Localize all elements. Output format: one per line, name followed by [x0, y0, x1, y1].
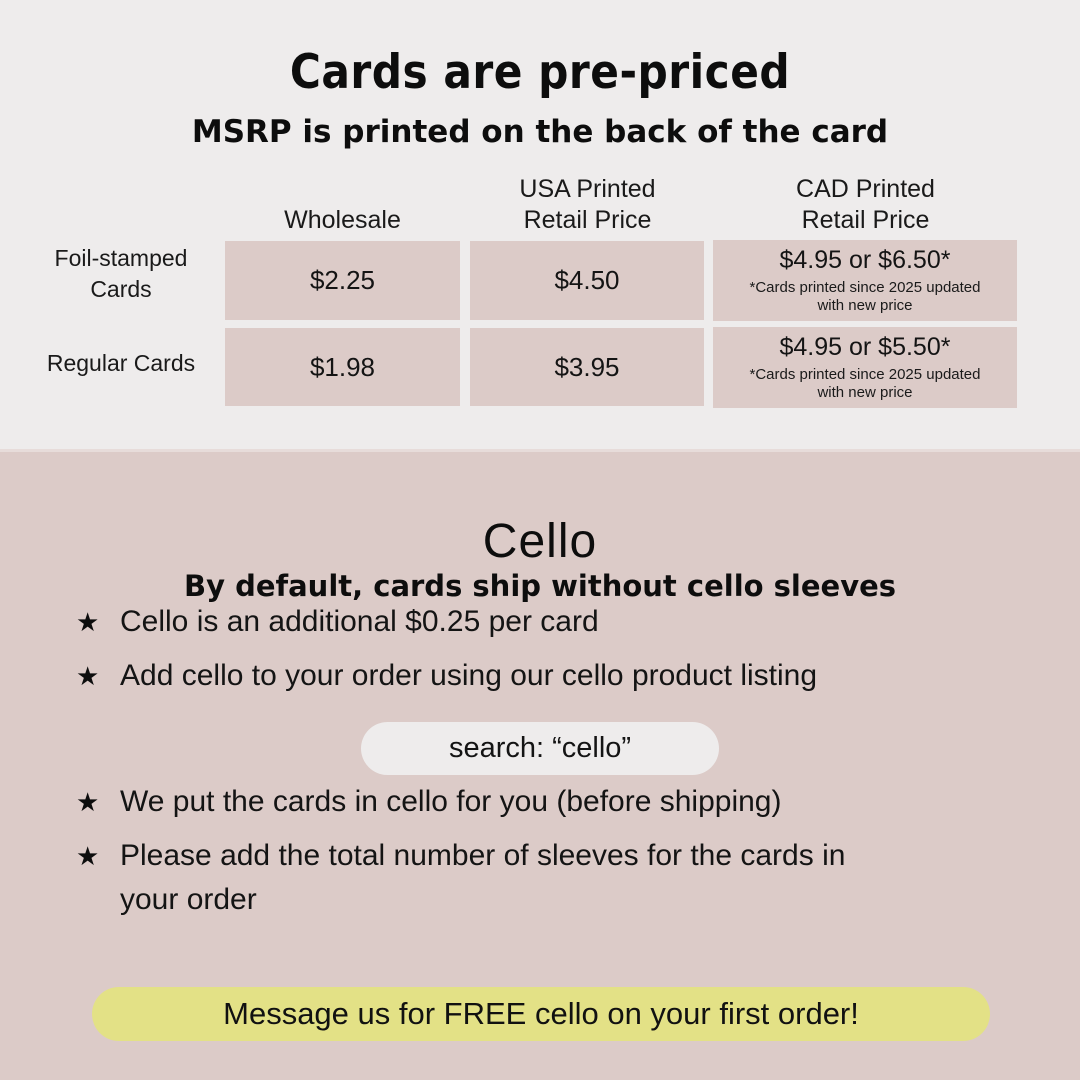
- cell-foil-cad-note: *Cards printed since 2025 updated with n…: [750, 279, 981, 315]
- cell-regular-wholesale: $1.98: [225, 328, 460, 406]
- search-hint-label: search: “cello”: [449, 732, 631, 765]
- cell-foil-cad-note-line2: with new price: [750, 297, 981, 315]
- list-item: ★ Please add the total number of sleeves…: [70, 836, 1030, 876]
- cta-banner[interactable]: Message us for FREE cello on your first …: [92, 987, 990, 1041]
- list-item-label: We put the cards in cello for you (befor…: [120, 782, 1030, 822]
- column-header-usa: USA Printed Retail Price: [470, 174, 705, 236]
- cello-title: Cello: [0, 514, 1080, 569]
- list-item-label: Cello is an additional $0.25 per card: [120, 602, 1030, 642]
- cell-regular-cad: $4.95 or $5.50* *Cards printed since 202…: [713, 327, 1017, 408]
- list-item: ★ Add cello to your order using our cell…: [70, 656, 1030, 696]
- cell-regular-cad-note-line1: *Cards printed since 2025 updated: [750, 366, 981, 384]
- star-icon: ★: [70, 836, 120, 876]
- star-icon: ★: [70, 782, 120, 822]
- row-label-foil-stamped-cards: Foil-stamped Cards: [22, 243, 220, 305]
- cello-subtitle: By default, cards ship without cello sle…: [0, 569, 1080, 603]
- column-header-wholesale: Wholesale: [225, 205, 460, 236]
- cell-regular-usa-value: $3.95: [554, 352, 619, 383]
- cell-foil-wholesale-value: $2.25: [310, 265, 375, 296]
- row-label-foil-line2: Cards: [22, 274, 220, 305]
- star-icon: ★: [70, 602, 120, 642]
- cta-banner-label: Message us for FREE cello on your first …: [223, 996, 859, 1032]
- cell-foil-cad-note-line1: *Cards printed since 2025 updated: [750, 279, 981, 297]
- cell-regular-wholesale-value: $1.98: [310, 352, 375, 383]
- star-icon: ★: [70, 656, 120, 696]
- cell-regular-cad-value: $4.95 or $5.50*: [780, 333, 951, 362]
- cell-foil-cad-value: $4.95 or $6.50*: [780, 246, 951, 275]
- column-header-cad: CAD Printed Retail Price: [713, 174, 1018, 236]
- cell-regular-usa: $3.95: [470, 328, 704, 406]
- row-label-regular-line1: Regular Cards: [22, 348, 220, 379]
- cell-foil-cad: $4.95 or $6.50* *Cards printed since 202…: [713, 240, 1017, 321]
- list-item: ★ We put the cards in cello for you (bef…: [70, 782, 1030, 822]
- list-item-label: Please add the total number of sleeves f…: [120, 836, 1030, 876]
- list-item-label-continued: your order: [120, 880, 1030, 920]
- search-hint-pill[interactable]: search: “cello”: [361, 722, 719, 775]
- page-title: Cards are pre-priced: [0, 45, 1080, 100]
- column-header-cad-line2: Retail Price: [713, 205, 1018, 236]
- cell-foil-usa-value: $4.50: [554, 265, 619, 296]
- cell-foil-usa: $4.50: [470, 241, 704, 320]
- cell-regular-cad-note-line2: with new price: [750, 384, 981, 402]
- list-item: ★ Cello is an additional $0.25 per card: [70, 602, 1030, 642]
- row-label-regular-cards: Regular Cards: [22, 348, 220, 379]
- row-label-foil-line1: Foil-stamped: [22, 243, 220, 274]
- pricing-section: Cards are pre-priced MSRP is printed on …: [0, 0, 1080, 450]
- column-header-cad-line1: CAD Printed: [713, 174, 1018, 205]
- column-header-usa-line1: USA Printed: [470, 174, 705, 205]
- cell-regular-cad-note: *Cards printed since 2025 updated with n…: [750, 366, 981, 402]
- column-header-wholesale-line1: Wholesale: [225, 205, 460, 236]
- list-item-label: Add cello to your order using our cello …: [120, 656, 1030, 696]
- page-subtitle: MSRP is printed on the back of the card: [0, 114, 1080, 150]
- column-header-usa-line2: Retail Price: [470, 205, 705, 236]
- cell-foil-wholesale: $2.25: [225, 241, 460, 320]
- list-item-continuation: your order: [70, 880, 1030, 920]
- infographic-page: Cards are pre-priced MSRP is printed on …: [0, 0, 1080, 1080]
- star-icon-placeholder: [70, 880, 120, 920]
